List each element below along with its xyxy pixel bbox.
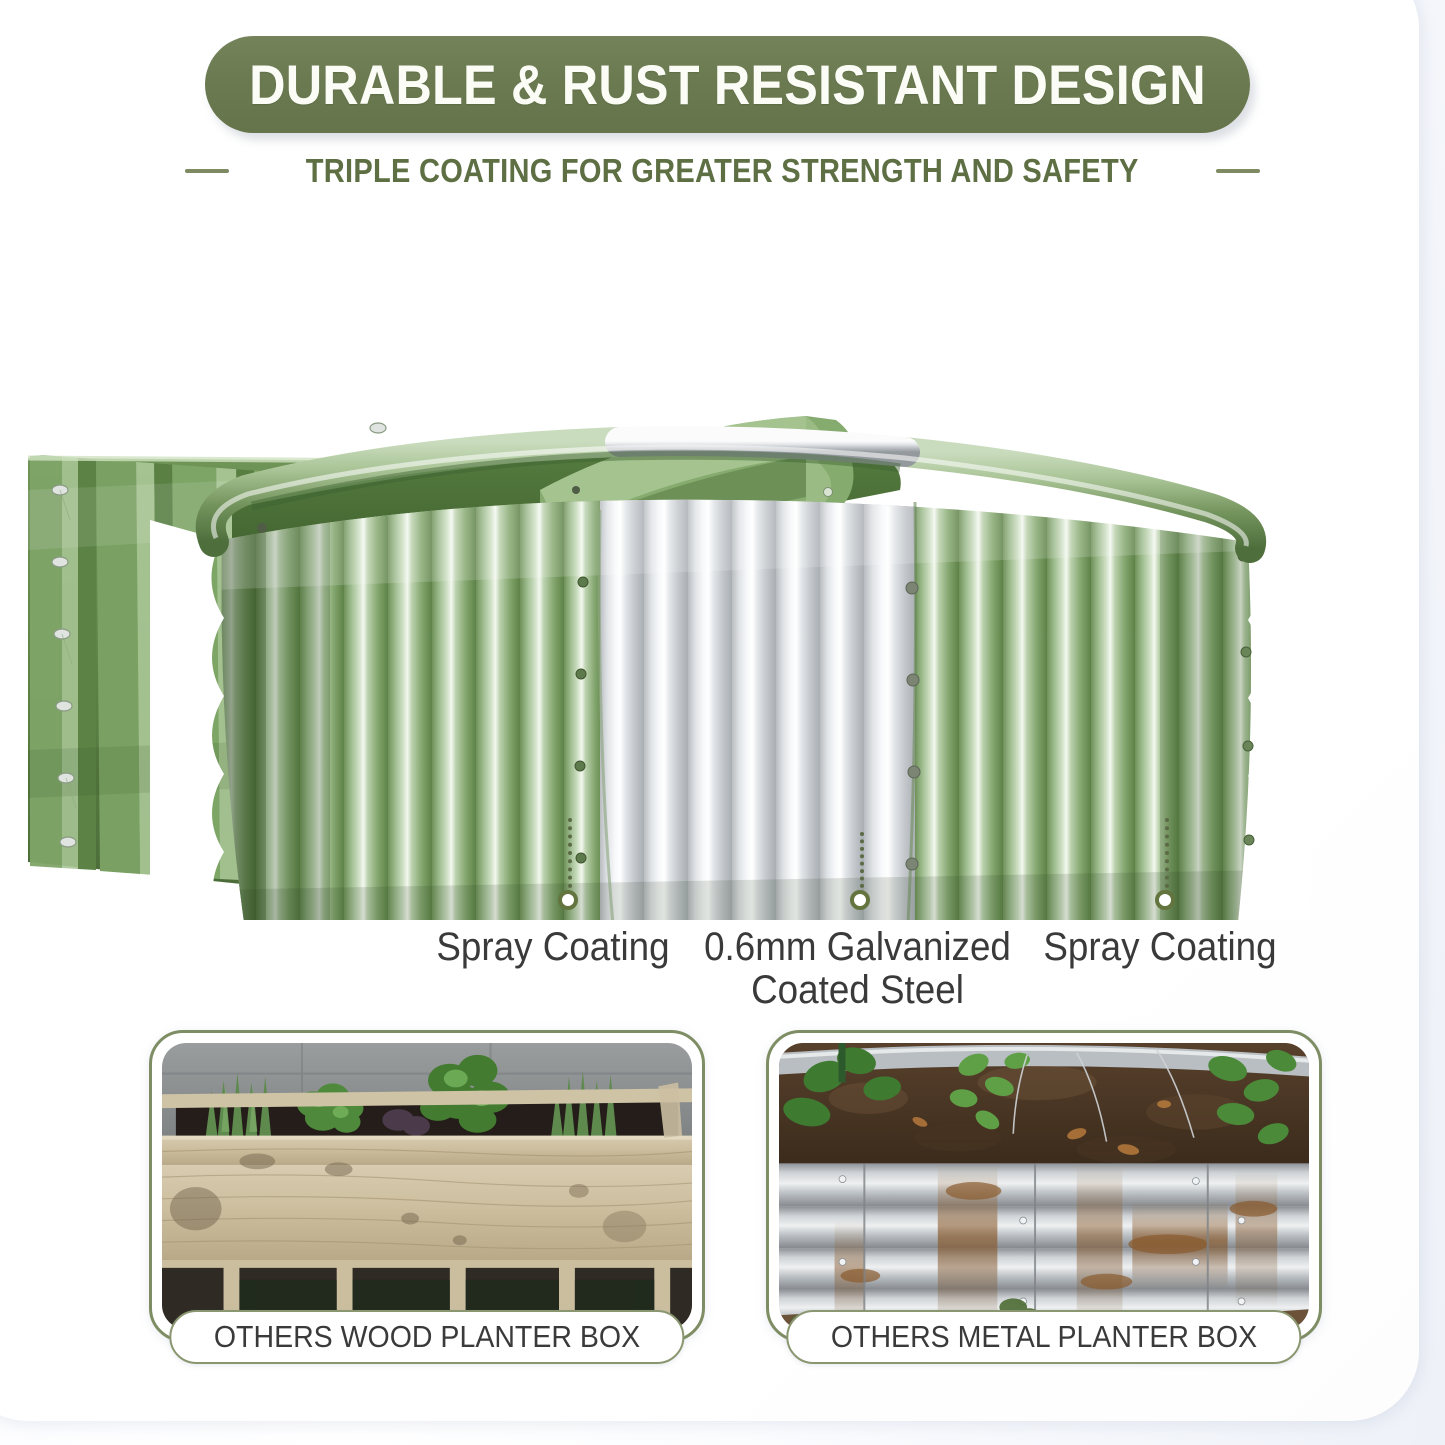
callout-leader-2 — [858, 832, 864, 888]
product-infographic: DURABLE & RUST RESISTANT DESIGN TRIPLE C… — [0, 0, 1445, 1445]
callout-dot-3 — [1155, 890, 1175, 910]
metal-planter-photo — [779, 1043, 1309, 1329]
callout-leader-1 — [566, 818, 572, 888]
wood-planter-photo — [162, 1043, 692, 1329]
headline-banner: DURABLE & RUST RESISTANT DESIGN — [205, 36, 1250, 133]
callout-dot-1 — [558, 890, 578, 910]
callout-label-galvanized-steel: 0.6mm Galvanized Coated Steel — [690, 926, 1026, 1012]
dash-left-icon — [185, 169, 229, 173]
subheadline-text: TRIPLE COATING FOR GREATER STRENGTH AND … — [306, 152, 1139, 190]
callout-label-spray-coating-right: Spray Coating — [994, 926, 1325, 969]
subheadline-row: TRIPLE COATING FOR GREATER STRENGTH AND … — [0, 152, 1445, 190]
callout-label-spray-coating-left: Spray Coating — [387, 926, 718, 969]
product-illustration — [0, 190, 1445, 920]
headline-text: DURABLE & RUST RESISTANT DESIGN — [249, 52, 1206, 117]
dash-right-icon — [1216, 169, 1260, 173]
comparison-tag-metal-label: OTHERS METAL PLANTER BOX — [831, 1319, 1257, 1355]
callout-leader-3 — [1163, 818, 1169, 888]
comparison-card-wood: OTHERS WOOD PLANTER BOX — [149, 1030, 705, 1342]
comparison-tag-wood: OTHERS WOOD PLANTER BOX — [169, 1310, 684, 1364]
comparison-tag-metal: OTHERS METAL PLANTER BOX — [786, 1310, 1301, 1364]
callout-dot-2 — [850, 890, 870, 910]
comparison-card-metal: OTHERS METAL PLANTER BOX — [766, 1030, 1322, 1342]
comparison-tag-wood-label: OTHERS WOOD PLANTER BOX — [214, 1319, 640, 1355]
callout-group: Spray Coating 0.6mm Galvanized Coated St… — [0, 818, 1445, 1008]
